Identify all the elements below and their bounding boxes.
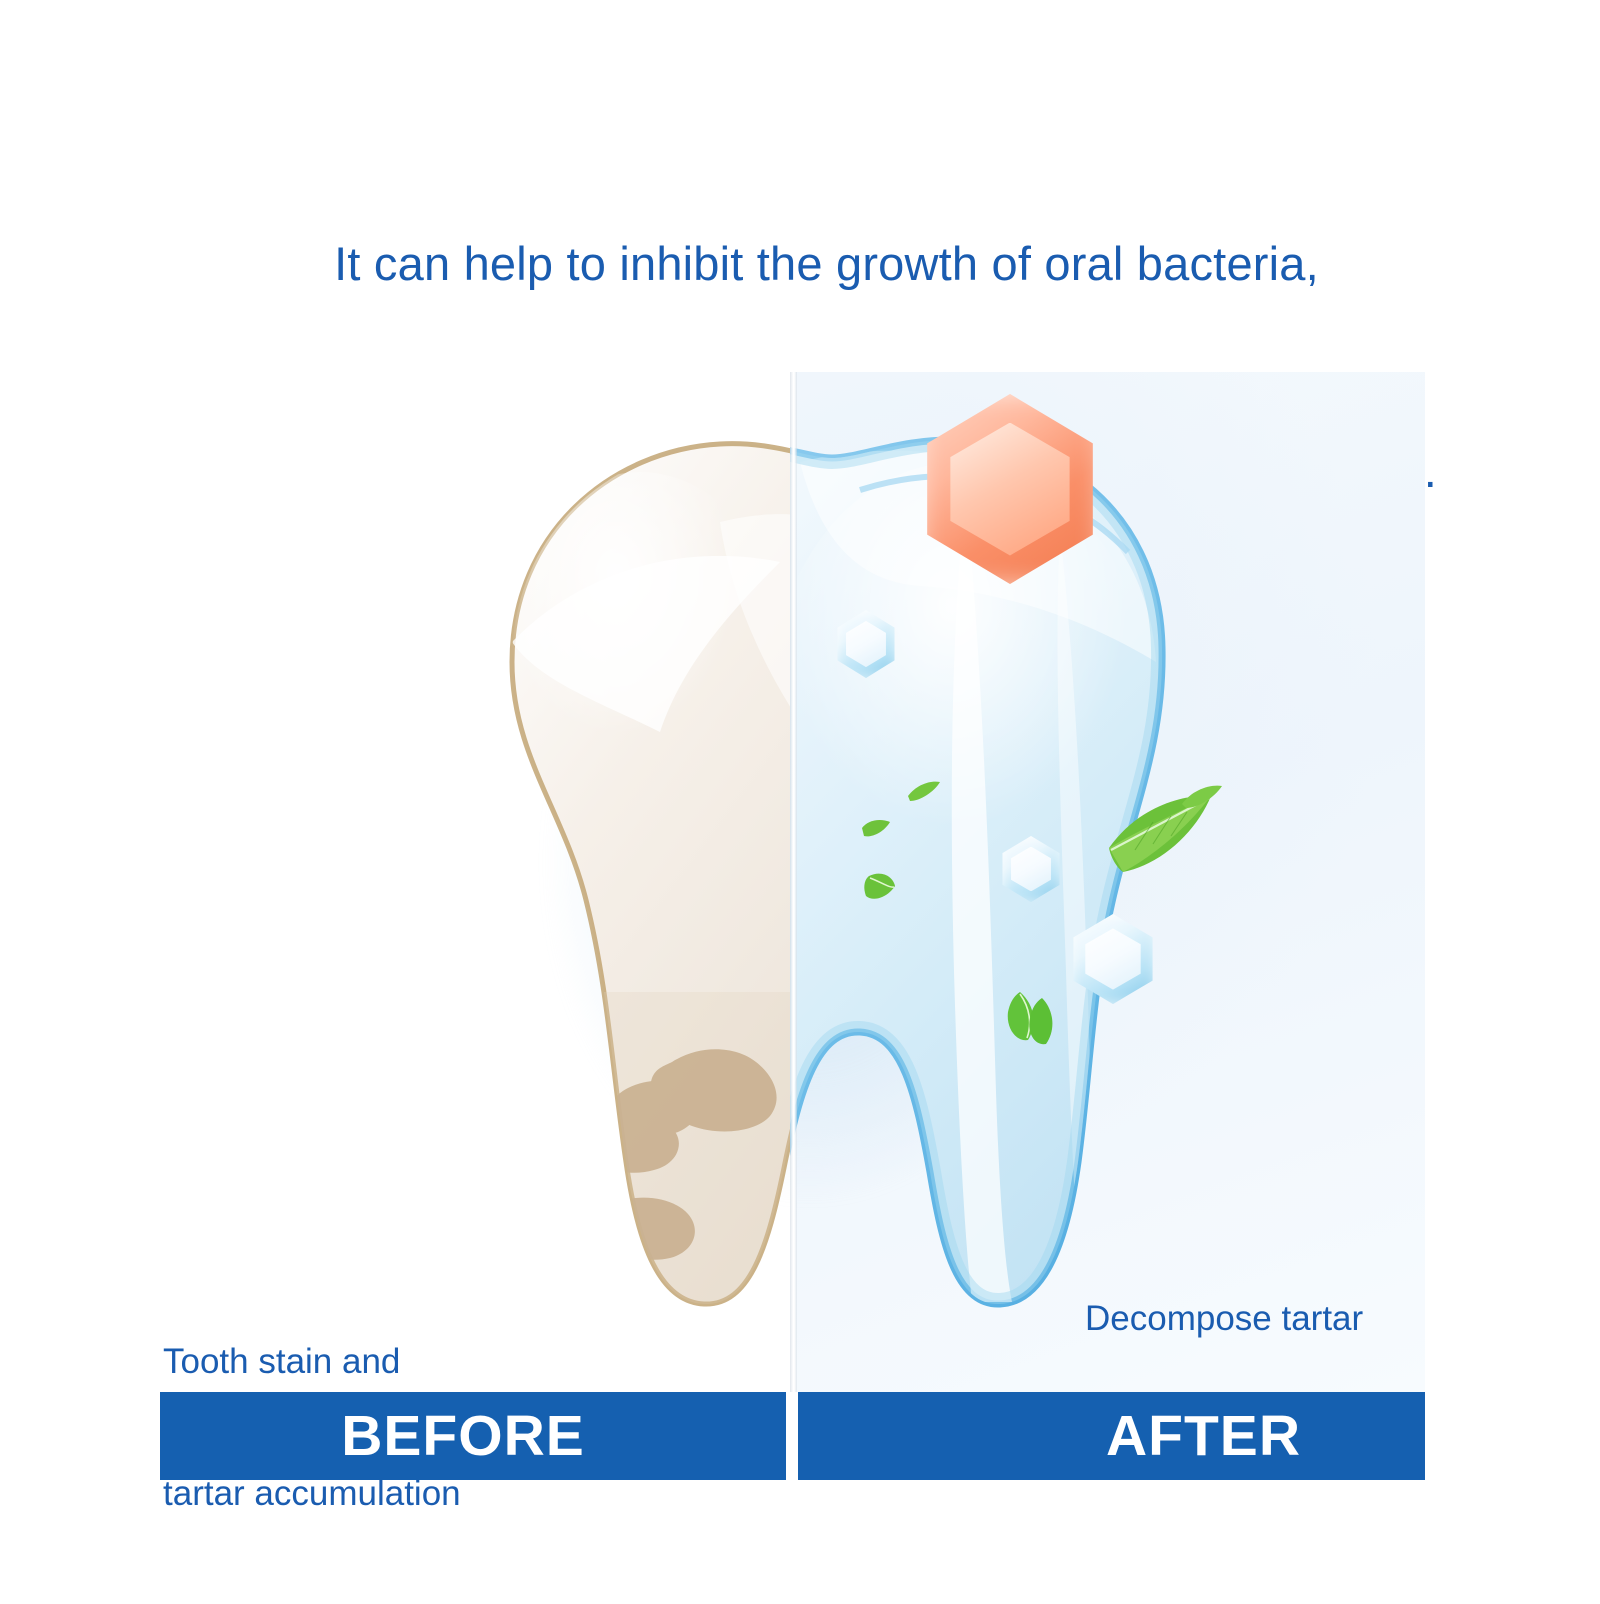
banner-divider [786, 1392, 798, 1480]
before-caption-line-1: Tooth stain and [163, 1340, 461, 1384]
before-banner-segment: BEFORE [160, 1392, 786, 1480]
after-caption: Decompose tartar [1085, 1297, 1363, 1341]
divider-line [790, 372, 797, 1392]
orange-hexagon-crystal-icon [920, 394, 1100, 584]
mint-leaf-icon [1024, 998, 1060, 1050]
before-after-banner: BEFORE AFTER [160, 1392, 1425, 1480]
ice-hexagon-crystal-icon [835, 610, 897, 678]
product-comparison-graphic: It can help to inhibit the growth of ora… [0, 0, 1600, 1600]
before-banner-label: BEFORE [341, 1408, 585, 1465]
after-banner-segment: AFTER [798, 1392, 1425, 1480]
mint-leaf-icon [860, 818, 892, 842]
after-banner-label: AFTER [1106, 1408, 1301, 1465]
mint-leaf-icon [1180, 784, 1224, 810]
mint-leaf-icon [906, 780, 942, 804]
ice-hexagon-crystal-icon [1070, 914, 1156, 1004]
headline-line-1: It can help to inhibit the growth of ora… [334, 237, 1319, 290]
before-after-comparison [160, 372, 1425, 1392]
ice-hexagon-crystal-icon [1000, 836, 1062, 902]
mint-leaf-icon [863, 870, 899, 904]
